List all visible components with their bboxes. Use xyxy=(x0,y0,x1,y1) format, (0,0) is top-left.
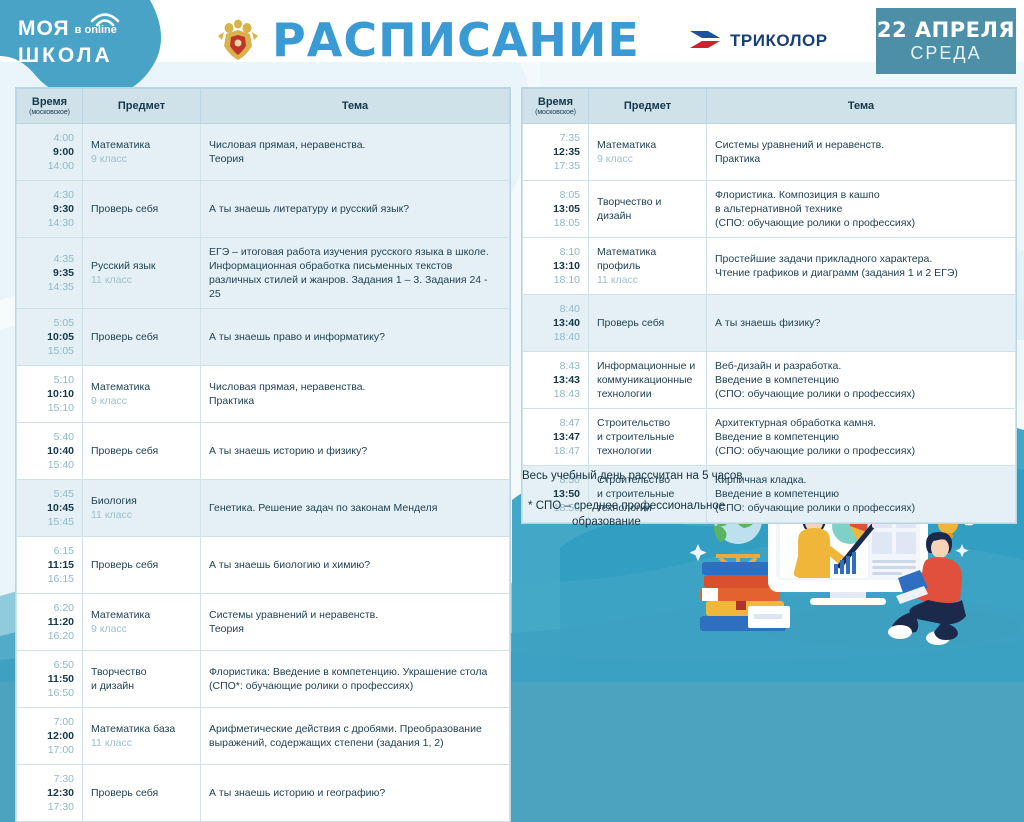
subject-grade: 9 класс xyxy=(91,622,192,636)
subject-name: Проверь себя xyxy=(91,203,158,215)
cell-subject: Творчество идизайн xyxy=(589,181,707,238)
cell-time: 8:4313:4318:43 xyxy=(523,352,589,409)
time-before: 7:35 xyxy=(560,132,580,144)
time-moscow: 9:35 xyxy=(53,267,74,279)
subject-name: Математика xyxy=(91,609,150,621)
cell-subject: Проверь себя xyxy=(83,181,201,238)
cell-time: 4:009:0014:00 xyxy=(17,124,83,181)
subject-name: Строительствои строительныетехнологии xyxy=(597,417,674,457)
column-header-subject: Предмет xyxy=(589,89,707,124)
subject-name: Творчество идизайн xyxy=(597,196,661,222)
time-before: 5:05 xyxy=(54,317,74,329)
table-row: 5:1010:1015:10Математика9 классЧисловая … xyxy=(17,366,510,423)
time-after: 17:00 xyxy=(48,744,74,756)
cell-time: 5:0510:0515:05 xyxy=(17,309,83,366)
table-row: 5:4510:4515:45Биология11 классГенетика. … xyxy=(17,480,510,537)
time-before: 4:35 xyxy=(54,253,74,265)
cell-theme: Числовая прямая, неравенства.Теория xyxy=(201,124,510,181)
time-after: 14:00 xyxy=(48,160,74,172)
cell-theme: Кирпичная кладка.Введение в компетенцию(… xyxy=(707,466,1016,523)
time-moscow: 10:40 xyxy=(47,445,74,457)
subject-name: Математика xyxy=(597,139,656,151)
cell-theme: Числовая прямая, неравенства.Практика xyxy=(201,366,510,423)
cell-theme: А ты знаешь литературу и русский язык? xyxy=(201,181,510,238)
subject-grade: 11 класс xyxy=(91,736,192,750)
time-after: 16:20 xyxy=(48,630,74,642)
time-moscow: 13:05 xyxy=(553,203,580,215)
column-header-theme: Тема xyxy=(707,89,1016,124)
cell-theme: Веб-дизайн и разработка.Введение в компе… xyxy=(707,352,1016,409)
cell-theme: Арифметические действия с дробями. Преоб… xyxy=(201,708,510,765)
time-before: 8:47 xyxy=(560,417,580,429)
time-moscow: 12:30 xyxy=(47,787,74,799)
time-after: 15:05 xyxy=(48,345,74,357)
subject-name: Русский язык xyxy=(91,260,156,272)
time-before: 8:10 xyxy=(560,246,580,258)
time-after: 18:43 xyxy=(554,388,580,400)
schedule-table-right: Время (московское) Предмет Тема 7:3512:3… xyxy=(522,88,1016,523)
page-title: РАСПИСАНИЕ xyxy=(272,14,640,66)
subject-grade: 11 класс xyxy=(91,508,192,522)
cell-time: 8:0513:0518:05 xyxy=(523,181,589,238)
cell-subject: Проверь себя xyxy=(589,295,707,352)
table-row: 6:1511:1516:15Проверь себяА ты знаешь би… xyxy=(17,537,510,594)
table-row: 5:0510:0515:05Проверь себяА ты знаешь пр… xyxy=(17,309,510,366)
schedule-rows-right: 7:3512:3517:35Математика9 классСистемы у… xyxy=(523,124,1016,523)
time-before: 5:10 xyxy=(54,374,74,386)
time-before: 6:50 xyxy=(54,659,74,671)
schedule-table-right-wrapper: Время (московское) Предмет Тема 7:3512:3… xyxy=(522,88,1016,523)
time-after: 18:05 xyxy=(554,217,580,229)
table-row: 6:2011:2016:20Математика9 классСистемы у… xyxy=(17,594,510,651)
schedule-rows-left: 4:009:0014:00Математика9 классЧисловая п… xyxy=(17,124,510,822)
schedule-table-left-wrapper: Время (московское) Предмет Тема 4:009:00… xyxy=(16,88,510,822)
column-header-time: Время (московское) xyxy=(523,89,589,124)
table-row: 4:009:0014:00Математика9 классЧисловая п… xyxy=(17,124,510,181)
column-header-subject: Предмет xyxy=(83,89,201,124)
subject-name: Информационные икоммуникационныетехнолог… xyxy=(597,360,695,400)
table-row: 4:359:3514:35Русский язык11 классЕГЭ – и… xyxy=(17,238,510,309)
footnote-text-line-1: СПО – среднее профессиональное xyxy=(536,500,725,512)
cell-theme: Системы уравнений и неравенств.Практика xyxy=(707,124,1016,181)
time-moscow: 10:45 xyxy=(47,502,74,514)
time-moscow: 13:47 xyxy=(553,431,580,443)
table-header-row: Время (московское) Предмет Тема xyxy=(523,89,1016,124)
table-row: 8:4713:4718:47Строительствои строительны… xyxy=(523,409,1016,466)
table-row: 8:4013:4018:40Проверь себяА ты знаешь фи… xyxy=(523,295,1016,352)
site-logo[interactable]: МОЯв online ШКОЛА xyxy=(18,18,117,66)
date-badge: 22 АПРЕЛЯ СРЕДА xyxy=(876,8,1016,74)
cell-time: 4:359:3514:35 xyxy=(17,238,83,309)
cell-theme: А ты знаешь право и информатику? xyxy=(201,309,510,366)
partner-logo[interactable]: ТРИКОЛОР xyxy=(688,28,828,54)
subject-name: Математикапрофиль xyxy=(597,246,656,272)
cell-time: 7:3012:3017:30 xyxy=(17,765,83,822)
cell-subject: Математика база11 класс xyxy=(83,708,201,765)
cell-time: 5:1010:1015:10 xyxy=(17,366,83,423)
table-row: 6:5011:5016:50Творчествои дизайнФлористи… xyxy=(17,651,510,708)
page-header: МОЯв online ШКОЛА РАСПИСАНИЕ ТРИКОЛОР 22… xyxy=(0,0,1024,80)
time-after: 15:10 xyxy=(48,402,74,414)
cell-subject: Проверь себя xyxy=(83,423,201,480)
time-before: 5:45 xyxy=(54,488,74,500)
time-moscow: 9:30 xyxy=(53,203,74,215)
logo-line-2: ШКОЛА xyxy=(18,45,117,66)
time-moscow: 12:35 xyxy=(553,146,580,158)
subject-grade: 9 класс xyxy=(91,394,192,408)
time-before: 6:20 xyxy=(54,602,74,614)
time-after: 17:30 xyxy=(48,801,74,813)
subject-name: Математика xyxy=(91,381,150,393)
subject-name: Математика база xyxy=(91,723,175,735)
time-moscow: 10:10 xyxy=(47,388,74,400)
table-row: 5:4010:4015:40Проверь себяА ты знаешь ис… xyxy=(17,423,510,480)
column-header-time-sublabel: (московское) xyxy=(21,109,78,116)
cell-subject: Математика9 класс xyxy=(83,124,201,181)
cell-theme: А ты знаешь историю и физику? xyxy=(201,423,510,480)
cell-subject: Проверь себя xyxy=(83,537,201,594)
notes-block: Весь учебный день рассчитан на 5 часов *… xyxy=(522,470,742,530)
time-before: 5:40 xyxy=(54,431,74,443)
wifi-icon xyxy=(88,8,122,28)
cell-subject: Творчествои дизайн xyxy=(83,651,201,708)
footnote-star: * xyxy=(528,500,532,512)
time-after: 18:47 xyxy=(554,445,580,457)
time-before: 4:30 xyxy=(54,189,74,201)
subject-grade: 9 класс xyxy=(597,152,698,166)
subject-name: Творчествои дизайн xyxy=(91,666,147,692)
time-moscow: 11:15 xyxy=(48,559,74,571)
cell-subject: Биология11 класс xyxy=(83,480,201,537)
time-before: 7:00 xyxy=(54,716,74,728)
time-moscow: 10:05 xyxy=(47,331,74,343)
cell-subject: Русский язык11 класс xyxy=(83,238,201,309)
subject-grade: 9 класс xyxy=(91,152,192,166)
time-before: 8:05 xyxy=(560,189,580,201)
time-before: 6:15 xyxy=(54,545,74,557)
table-row: 4:309:3014:30Проверь себяА ты знаешь лит… xyxy=(17,181,510,238)
table-row: 7:0012:0017:00Математика база11 классАри… xyxy=(17,708,510,765)
cell-subject: Математикапрофиль11 класс xyxy=(589,238,707,295)
cell-theme: Архитектурная обработка камня.Введение в… xyxy=(707,409,1016,466)
subject-name: Проверь себя xyxy=(91,331,158,343)
column-header-time: Время (московское) xyxy=(17,89,83,124)
cell-subject: Математика9 класс xyxy=(589,124,707,181)
time-before: 8:43 xyxy=(560,360,580,372)
date-weekday: СРЕДА xyxy=(910,43,981,64)
date-day: 22 АПРЕЛЯ xyxy=(877,18,1015,42)
cell-time: 7:3512:3517:35 xyxy=(523,124,589,181)
cell-time: 4:309:3014:30 xyxy=(17,181,83,238)
time-moscow: 13:43 xyxy=(553,374,580,386)
subject-name: Биология xyxy=(91,495,137,507)
logo-line-1: МОЯ xyxy=(18,18,70,39)
table-header-row: Время (московское) Предмет Тема xyxy=(17,89,510,124)
time-moscow: 13:10 xyxy=(553,260,580,272)
time-after: 17:35 xyxy=(554,160,580,172)
footnote-text-line-2: образование xyxy=(572,514,742,530)
time-after: 18:10 xyxy=(554,274,580,286)
table-row: 7:3512:3517:35Математика9 классСистемы у… xyxy=(523,124,1016,181)
cell-time: 7:0012:0017:00 xyxy=(17,708,83,765)
time-before: 4:00 xyxy=(54,132,74,144)
cell-time: 6:2011:2016:20 xyxy=(17,594,83,651)
cell-theme: Флористика. Композиция в кашпов альтерна… xyxy=(707,181,1016,238)
partner-name: ТРИКОЛОР xyxy=(730,31,828,51)
ground-shadow xyxy=(760,607,1020,647)
schedule-table-left: Время (московское) Предмет Тема 4:009:00… xyxy=(16,88,510,822)
cell-time: 6:5011:5016:50 xyxy=(17,651,83,708)
table-row: 8:4313:4318:43Информационные икоммуникац… xyxy=(523,352,1016,409)
table-row: 8:0513:0518:05Творчество идизайнФлористи… xyxy=(523,181,1016,238)
subject-name: Проверь себя xyxy=(91,445,158,457)
cell-time: 8:1013:1018:10 xyxy=(523,238,589,295)
time-after: 14:30 xyxy=(48,217,74,229)
time-after: 14:35 xyxy=(48,281,74,293)
table-row: 8:1013:1018:10Математикапрофиль11 классП… xyxy=(523,238,1016,295)
time-before: 8:40 xyxy=(560,303,580,315)
subject-grade: 11 класс xyxy=(91,273,192,287)
time-moscow: 11:20 xyxy=(48,616,74,628)
cell-time: 5:4010:4015:40 xyxy=(17,423,83,480)
cell-subject: Математика9 класс xyxy=(83,594,201,651)
cell-theme: Системы уравнений и неравенств.Теория xyxy=(201,594,510,651)
cell-subject: Проверь себя xyxy=(83,765,201,822)
time-moscow: 12:00 xyxy=(47,730,74,742)
subject-name: Проверь себя xyxy=(91,559,158,571)
time-before: 7:30 xyxy=(54,773,74,785)
time-after: 16:15 xyxy=(48,573,74,585)
cell-time: 8:4713:4718:47 xyxy=(523,409,589,466)
time-moscow: 11:50 xyxy=(48,673,74,685)
time-after: 15:45 xyxy=(48,516,74,528)
cell-theme: Генетика. Решение задач по законам Менде… xyxy=(201,480,510,537)
russian-coat-of-arms-emblem xyxy=(216,16,260,64)
column-header-theme: Тема xyxy=(201,89,510,124)
cell-theme: Простейшие задачи прикладного характера.… xyxy=(707,238,1016,295)
column-header-time-label: Время xyxy=(538,96,573,108)
cell-subject: Математика9 класс xyxy=(83,366,201,423)
spo-footnote: * СПО – среднее профессиональное образов… xyxy=(528,498,742,530)
cell-theme: Флористика: Введение в компетенцию. Укра… xyxy=(201,651,510,708)
cell-subject: Информационные икоммуникационныетехнолог… xyxy=(589,352,707,409)
subject-grade: 11 класс xyxy=(597,273,698,287)
study-day-duration-note: Весь учебный день рассчитан на 5 часов xyxy=(522,470,742,482)
time-after: 18:40 xyxy=(554,331,580,343)
tricolor-chevron-icon xyxy=(688,28,724,54)
time-moscow: 13:40 xyxy=(553,317,580,329)
subject-name: Проверь себя xyxy=(597,317,664,329)
cell-subject: Проверь себя xyxy=(83,309,201,366)
time-moscow: 9:00 xyxy=(53,146,74,158)
subject-name: Проверь себя xyxy=(91,787,158,799)
cell-theme: ЕГЭ – итоговая работа изучения русского … xyxy=(201,238,510,309)
cell-theme: А ты знаешь биологию и химию? xyxy=(201,537,510,594)
table-row: 7:3012:3017:30Проверь себяА ты знаешь ис… xyxy=(17,765,510,822)
column-header-time-label: Время xyxy=(32,96,67,108)
cell-subject: Строительствои строительныетехнологии xyxy=(589,409,707,466)
column-header-time-sublabel: (московское) xyxy=(527,109,584,116)
cell-time: 5:4510:4515:45 xyxy=(17,480,83,537)
cell-time: 6:1511:1516:15 xyxy=(17,537,83,594)
time-after: 16:50 xyxy=(48,687,74,699)
cell-theme: А ты знаешь физику? xyxy=(707,295,1016,352)
cell-theme: А ты знаешь историю и географию? xyxy=(201,765,510,822)
cell-time: 8:4013:4018:40 xyxy=(523,295,589,352)
time-after: 15:40 xyxy=(48,459,74,471)
subject-name: Математика xyxy=(91,139,150,151)
